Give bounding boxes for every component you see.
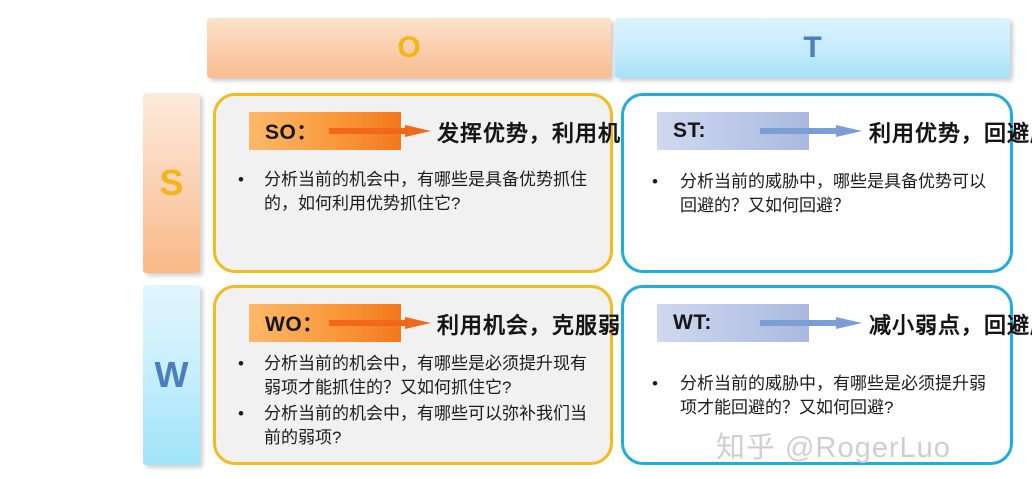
arrow-shaft — [329, 320, 409, 326]
column-header-t-label: T — [803, 31, 821, 65]
cell-st-header: ST: 利用优势，回避威胁 — [624, 112, 1010, 152]
list-item: • 分析当前的机会中，有哪些是必须提升现有弱项才能抓住的？又如何抓住它? — [264, 352, 592, 400]
bullet-icon: • — [238, 168, 244, 192]
list-item-text: 分析当前的威胁中，哪些是具备优势可以回避的？又如何回避？ — [680, 170, 996, 218]
row-header-s-label: S — [159, 162, 183, 204]
arrow-tip — [836, 317, 862, 329]
list-item-text: 分析当前的机会中，有哪些是具备优势抓住的，如何利用优势抓住它? — [264, 168, 592, 216]
arrow-right-icon — [329, 317, 431, 329]
cell-so-bullet-list: • 分析当前的机会中，有哪些是具备优势抓住的，如何利用优势抓住它? — [216, 168, 610, 216]
arrow-shaft — [329, 128, 409, 134]
cell-wt-tag-label: WT: — [673, 311, 712, 335]
list-item: • 分析当前的机会中，有哪些是具备优势抓住的，如何利用优势抓住它? — [264, 168, 592, 216]
cell-st-bullet-list: • 分析当前的威胁中，哪些是具备优势可以回避的？又如何回避？ — [624, 170, 1010, 218]
cell-so-tag-label: SO： — [265, 116, 318, 146]
cell-wt: WT: 减小弱点，回避威胁 • 分析当前的威胁中，有哪些是必须提升弱项才能回避的… — [621, 285, 1013, 465]
arrow-right-icon — [760, 125, 862, 137]
bullet-icon: • — [652, 170, 658, 194]
arrow-shaft — [760, 320, 840, 326]
list-item: • 分析当前的机会中，有哪些可以弥补我们当前的弱项? — [264, 402, 592, 450]
cell-so-title: 发挥优势，利用机会 — [437, 116, 644, 148]
list-item-text: 分析当前的机会中，有哪些可以弥补我们当前的弱项? — [264, 402, 592, 450]
cell-so-header: SO： 发挥优势，利用机会 — [216, 112, 610, 152]
arrow-tip — [405, 125, 431, 137]
cell-so: SO： 发挥优势，利用机会 • 分析当前的机会中，有哪些是具备优势抓住的，如何利… — [213, 93, 613, 273]
row-header-strengths: S — [143, 93, 200, 273]
bullet-icon: • — [238, 352, 244, 376]
cell-st-tag-label: ST: — [673, 119, 706, 143]
list-item-text: 分析当前的机会中，有哪些是必须提升现有弱项才能抓住的？又如何抓住它? — [264, 352, 592, 400]
cell-wo-header: WO： 利用机会，克服弱点 — [216, 304, 610, 344]
column-header-opportunities: O — [207, 18, 611, 78]
cell-wt-title: 减小弱点，回避威胁 — [869, 308, 1032, 340]
arrow-right-icon — [760, 317, 862, 329]
list-item: • 分析当前的威胁中，有哪些是必须提升弱项才能回避的？又如何回避? — [680, 372, 996, 420]
cell-wt-header: WT: 减小弱点，回避威胁 — [624, 304, 1010, 344]
cell-wo: WO： 利用机会，克服弱点 • 分析当前的机会中，有哪些是必须提升现有弱项才能抓… — [213, 285, 613, 465]
list-item-text: 分析当前的威胁中，有哪些是必须提升弱项才能回避的？又如何回避? — [680, 372, 996, 420]
list-item: • 分析当前的威胁中，哪些是具备优势可以回避的？又如何回避？ — [680, 170, 996, 218]
cell-wo-title: 利用机会，克服弱点 — [437, 308, 644, 340]
bullet-icon: • — [652, 372, 658, 396]
arrow-shaft — [760, 128, 840, 134]
bullet-icon: • — [238, 402, 244, 426]
arrow-tip — [836, 125, 862, 137]
row-header-w-label: W — [155, 354, 189, 396]
row-header-weaknesses: W — [143, 285, 200, 465]
cell-st-title: 利用优势，回避威胁 — [869, 116, 1032, 148]
arrow-right-icon — [329, 125, 431, 137]
column-header-threats: T — [615, 18, 1010, 78]
column-header-o-label: O — [397, 31, 420, 65]
cell-wt-bullet-list: • 分析当前的威胁中，有哪些是必须提升弱项才能回避的？又如何回避? — [624, 372, 1010, 420]
cell-wo-tag-label: WO： — [265, 308, 324, 338]
arrow-tip — [405, 317, 431, 329]
cell-st: ST: 利用优势，回避威胁 • 分析当前的威胁中，哪些是具备优势可以回避的？又如… — [621, 93, 1013, 273]
swot-matrix: O T S W SO： 发挥优势，利用机会 • 分析当前的机会中，有哪些是具备优… — [0, 0, 1032, 479]
cell-wo-bullet-list: • 分析当前的机会中，有哪些是必须提升现有弱项才能抓住的？又如何抓住它? • 分… — [216, 352, 610, 451]
